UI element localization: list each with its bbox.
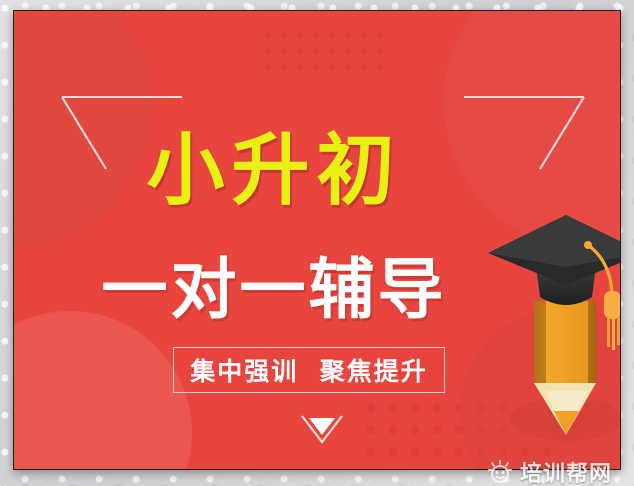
dot-grid-bottom — [354, 391, 554, 465]
dot-grid-top — [256, 23, 384, 71]
decor-circle-right-bottom — [460, 307, 621, 470]
sun-face-icon — [487, 459, 513, 485]
watermark: 培训帮网 — [487, 456, 612, 486]
tagline-text: 集中强训 聚焦提升 — [190, 352, 427, 388]
decor-circle-left-bottom — [13, 311, 192, 470]
watermark-text: 培训帮网 — [520, 456, 612, 486]
tagline-box: 集中强训 聚焦提升 — [173, 347, 445, 393]
poster-headline: 小升初 — [14, 129, 534, 213]
canvas: 小升初 一对一辅导 集中强训 聚焦提升 — [0, 0, 634, 486]
poster-subhead: 一对一辅导 — [14, 254, 534, 326]
chevron-down-icon — [300, 414, 344, 444]
promo-poster: 小升初 一对一辅导 集中强训 聚焦提升 — [13, 10, 621, 470]
